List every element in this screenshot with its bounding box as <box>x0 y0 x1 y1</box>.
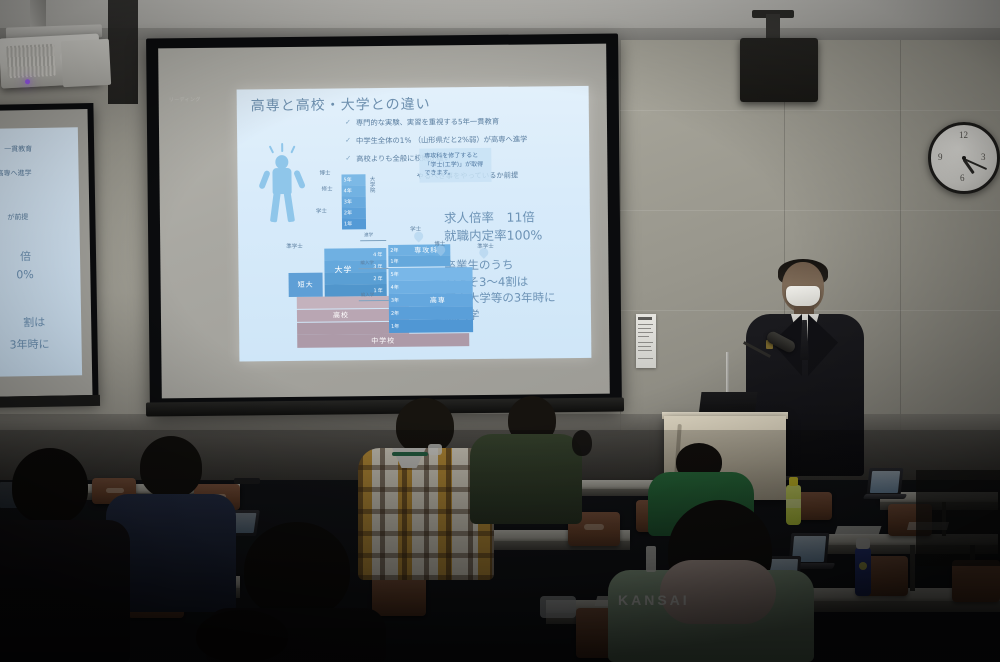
transfer-arrow <box>360 240 386 241</box>
degree-label-bachelor: 学士 <box>316 207 327 215</box>
block-year: 5年 <box>388 271 402 278</box>
figure-body <box>272 168 291 194</box>
block-year: 3年 <box>389 297 403 304</box>
ceiling-column <box>108 0 138 104</box>
diagram-block-grad-y1: 1年 <box>342 218 366 229</box>
shadow-region <box>916 470 1000 566</box>
callout-line: 専攻科を修了すると <box>424 152 486 161</box>
slide2-fragment: 高専へ進学 <box>0 168 32 179</box>
figure-leg <box>270 192 281 223</box>
clock-number: 9 <box>938 152 943 162</box>
paper-sheet <box>835 526 882 535</box>
slide2-fragment: が前提 <box>7 212 28 222</box>
slide2-fragment: 割は <box>23 314 45 330</box>
diagram-label-graduate-school: 大学院 <box>368 176 376 193</box>
bullet-text: 中学生全体の1% （山形県だと2%弱）が高専へ進学 <box>356 134 528 146</box>
diagram-block-kosen-y3: 3年 高専 <box>389 293 473 307</box>
block-name: 高専 <box>403 295 473 306</box>
face-mask-icon <box>428 444 442 455</box>
transfer-label-shingaku: 進学 <box>364 232 373 238</box>
block-name: 中学校 <box>297 335 469 347</box>
projector-rear <box>61 39 111 87</box>
figure-head <box>275 155 288 169</box>
block-year: 2年 <box>388 247 402 254</box>
callout-line: 「学士(工学)」が取得 <box>424 161 486 170</box>
person-illustration-icon <box>259 145 306 223</box>
clock-number: 3 <box>981 152 986 162</box>
slide-title: 高専と高校・大学との違い <box>251 94 431 116</box>
block-year: 1年 <box>388 258 402 265</box>
device <box>234 478 260 484</box>
diagram-block-university-y4: 4年 <box>324 248 386 261</box>
slide-logo: リーディング <box>169 96 201 103</box>
desk-front <box>812 601 1000 612</box>
degree-label-master: 修士 <box>322 185 333 193</box>
spark <box>281 143 283 152</box>
kpi-line: 求人倍率 11倍 <box>444 208 542 227</box>
callout-line: できます。 <box>424 169 486 178</box>
diagram-block-kosen-y2: 2年 <box>389 306 473 320</box>
speaker-box <box>740 38 818 102</box>
face-mask-icon <box>786 286 820 306</box>
id-card <box>646 546 656 572</box>
spark <box>290 145 295 153</box>
diagram-block-grad-y3: 3年 <box>342 196 366 207</box>
check-icon: ✓ <box>345 154 351 163</box>
bottle-cap <box>789 477 798 486</box>
wall-seam <box>620 210 1000 211</box>
block-year: 4年 <box>342 187 368 194</box>
diagram-block-junior-college: 短大 <box>289 273 323 297</box>
notice-header <box>638 317 652 320</box>
tumbler-lid <box>856 538 870 549</box>
secondary-projection-area: 一貫教育 高専へ進学 が前提 倍 0% 割は 3年時に <box>0 109 92 397</box>
speaker-mount <box>766 14 780 40</box>
laptop-base <box>863 494 907 499</box>
block-year: 2年 <box>342 209 368 216</box>
slide2-fragment: 倍 <box>20 248 31 264</box>
bullet-item: ✓ 専門的な実験、実習を重視する5年一貫教育 <box>345 116 589 128</box>
slide2-fragment: 0% <box>16 268 34 281</box>
chair <box>952 560 1000 602</box>
diagram-block-university-y1: 1年 <box>325 284 387 297</box>
transfer-label-hennyu1: 編入学 <box>360 260 374 266</box>
student-head <box>12 448 88 524</box>
wall-notice <box>636 314 656 368</box>
figure-leg <box>284 192 295 223</box>
diagram-block-kosen-y4: 4年 <box>389 280 473 294</box>
slide-content: 高専と高校・大学との違い ✓ 専門的な実験、実習を重視する5年一貫教育 ✓ 中学… <box>237 86 592 362</box>
wall-seam <box>620 110 1000 111</box>
block-name: 高校 <box>297 310 385 321</box>
diagram-block-advanced-y1: 1年 <box>388 255 450 267</box>
block-year: 4年 <box>389 284 403 291</box>
slide-callout: 専攻科を修了すると 「学士(工学)」が取得 できます。 <box>419 148 491 183</box>
laptop-screen <box>870 471 900 493</box>
secondary-projection-screen: 一貫教育 高専へ進学 が前提 倍 0% 割は 3年時に <box>0 103 99 405</box>
lanyard <box>392 452 428 456</box>
student-head <box>572 430 592 456</box>
block-year: 1年 <box>342 220 368 227</box>
block-year: 1年 <box>389 323 403 330</box>
figure-arm <box>293 169 306 189</box>
degree-label-associate: 準学士 <box>286 242 303 250</box>
tumbler[interactable] <box>855 548 871 596</box>
clock-center-pin <box>962 156 966 160</box>
secondary-screen-bar <box>0 395 100 408</box>
student-head <box>196 610 288 662</box>
student-head <box>396 398 454 454</box>
slide2-fragment: 3年時に <box>9 336 49 353</box>
bottle-label <box>786 499 801 508</box>
student-head <box>244 522 350 618</box>
spark <box>269 146 274 154</box>
diagram-block-junior-high: 中学校 <box>297 333 469 348</box>
block-year: 4年 <box>324 250 386 258</box>
diagram-block-kosen-y1: 1年 <box>389 319 473 333</box>
bullet-item: ✓ 中学生全体の1% （山形県だと2%弱）が高専へ進学 <box>345 134 589 146</box>
wall-seam <box>900 40 901 460</box>
diagram-block-grad-y4: 4年 <box>342 185 366 196</box>
block-year: 2年 <box>389 310 403 317</box>
bullet-text: 専門的な実験、実習を重視する5年一貫教育 <box>356 117 499 128</box>
block-year: 5年 <box>342 176 368 183</box>
block-year: 2年 <box>325 274 387 282</box>
secondary-slide: 一貫教育 高専へ進学 が前提 倍 0% 割は 3年時に <box>0 127 82 377</box>
pouch <box>540 596 576 618</box>
block-name: 短大 <box>289 280 323 290</box>
block-name-university: 大学 <box>334 264 352 275</box>
student-head <box>140 436 202 498</box>
hoodie-text: KANSAI <box>618 592 690 608</box>
projection-area: リーディング 高専と高校・大学との違い ✓ 専門的な実験、実習を重視する5年一貫… <box>158 44 610 399</box>
student-torso <box>0 520 130 662</box>
lecture-hall-scene: 12 3 6 9 一貫教育 高専へ進学 が前提 倍 0% 割は 3年時に リーデ… <box>0 0 1000 662</box>
block-year: 1年 <box>325 286 387 294</box>
block-year: 3年 <box>342 198 368 205</box>
transfer-label-hennyu2: 編入学 <box>361 292 375 298</box>
clock-number: 6 <box>960 173 965 183</box>
projector-led-icon <box>25 79 30 84</box>
check-icon: ✓ <box>345 118 351 127</box>
check-icon: ✓ <box>345 136 351 145</box>
tumbler-logo-icon <box>859 562 867 570</box>
desk-leg <box>910 545 915 591</box>
wall-clock: 12 3 6 9 <box>928 122 1000 194</box>
degree-label-doctor: 博士 <box>319 169 330 177</box>
student-torso <box>470 434 582 524</box>
projector-vent <box>6 44 56 78</box>
slide-kpi-block: 求人倍率 11倍 就職内定率100% <box>444 208 543 245</box>
clock-number: 12 <box>959 130 968 140</box>
diagram-block-kosen-y5: 5年 <box>388 267 472 281</box>
diagram-block-grad-y5: 5年 <box>341 174 365 185</box>
figure-arm <box>258 170 271 190</box>
slide2-fragment: 一貫教育 <box>4 144 32 154</box>
projection-screen: リーディング 高専と高校・大学との違い ✓ 専門的な実験、実習を重視する5年一貫… <box>146 34 622 414</box>
diagram-block-grad-y2: 2年 <box>342 207 366 218</box>
